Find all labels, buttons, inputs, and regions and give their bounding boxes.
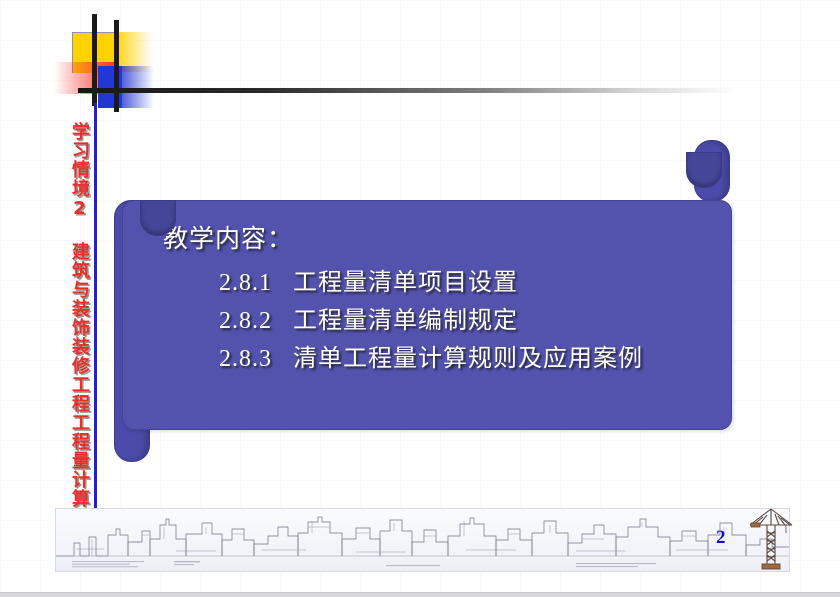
toc-item-3-number: 2.8.3 <box>219 346 293 373</box>
left-blue-divider-rule <box>94 103 97 513</box>
scroll-banner: 教学内容： 2.8.1 工程量清单项目设置 2.8.2 工程量清单编制规定 2.… <box>108 148 738 438</box>
logo-vertical-bar <box>114 20 119 112</box>
logo-blue-fade-block <box>114 66 154 108</box>
toc-item-3: 2.8.3 清单工程量计算规则及应用案例 <box>163 338 721 373</box>
city-skyline-image <box>55 508 790 572</box>
toc-item-1-label: 工程量清单项目设置 <box>293 262 518 297</box>
toc-item-1-number: 2.8.1 <box>219 270 293 297</box>
scroll-right-curl-lip <box>686 152 722 188</box>
logo-horizontal-rule <box>78 88 738 93</box>
logo-vertical-bar-extension <box>92 14 97 106</box>
slide-logo <box>64 20 164 112</box>
scroll-sheet: 教学内容： 2.8.1 工程量清单项目设置 2.8.2 工程量清单编制规定 2.… <box>122 200 732 430</box>
toc-item-2-label: 工程量清单编制规定 <box>293 300 518 335</box>
toc-item-2-number: 2.8.2 <box>219 308 293 335</box>
window-bottom-edge <box>0 592 840 597</box>
toc-item-1: 2.8.1 工程量清单项目设置 <box>163 262 721 297</box>
scroll-content: 教学内容： 2.8.1 工程量清单项目设置 2.8.2 工程量清单编制规定 2.… <box>163 219 721 376</box>
toc-item-3-label: 清单工程量计算规则及应用案例 <box>293 338 643 373</box>
scroll-left-curl-lip <box>140 200 176 236</box>
skyline-line-art <box>56 509 789 571</box>
presentation-slide: 学习情境2 建筑与装饰装修工程工程量计算 教学内容： 2.8.1 工程量清单项目… <box>0 0 840 597</box>
vertical-side-title: 学习情境2 建筑与装饰装修工程工程量计算 <box>61 122 89 502</box>
content-heading: 教学内容： <box>163 219 721 255</box>
toc-item-2: 2.8.2 工程量清单编制规定 <box>163 300 721 335</box>
tower-crane-icon <box>745 503 797 575</box>
slide-page-number: 2 <box>716 527 726 549</box>
